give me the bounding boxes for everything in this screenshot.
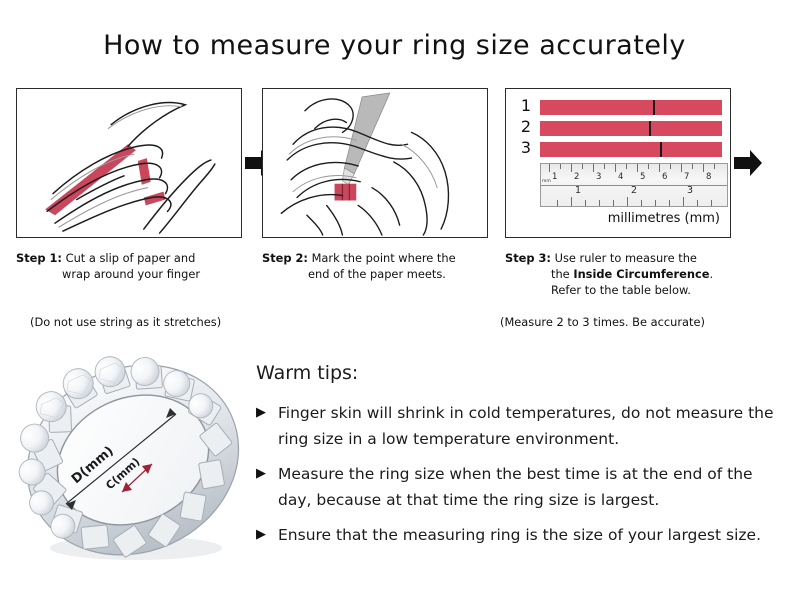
step-1-line-2: wrap around your finger <box>16 266 278 282</box>
step-3-line-2: the Inside Circumference. <box>505 266 767 282</box>
measured-strip-row: 1 <box>518 100 722 115</box>
strip-mark-tick <box>649 121 651 136</box>
tip-text: Ensure that the measuring ring is the si… <box>278 526 761 544</box>
step-1-panel <box>16 88 242 238</box>
measured-strip-row: 3 <box>518 142 722 157</box>
diamond-eternity-ring-photo: D(mm) C(mm) <box>18 352 256 568</box>
ruler-unit-caption: millimetres (mm) <box>506 211 720 226</box>
ruler-cm-number: 4 <box>618 173 623 182</box>
inside-circumference-emphasis: Inside Circumference <box>573 267 709 281</box>
paper-strip-bar <box>540 100 722 115</box>
tip-item: ▶ Finger skin will shrink in cold temper… <box>256 400 776 452</box>
ruler-cm-number: 1 <box>552 173 557 182</box>
step-2-label: Step 2: <box>262 251 308 265</box>
hand-marking-paper-with-pen-illustration <box>263 89 487 237</box>
ruler-inch-scale: 1 2 3 <box>541 186 727 207</box>
tip-item: ▶ Ensure that the measuring ring is the … <box>256 522 776 548</box>
ruler-cm-number: 5 <box>640 173 645 182</box>
step-2-line-1: Mark the point where the <box>312 251 456 265</box>
step-3-panel: 1 2 3 mm 1 2 <box>505 88 731 238</box>
ruler-inch-number: 1 <box>575 186 581 195</box>
ruler-inch-number: 3 <box>687 186 693 195</box>
warm-tips-heading: Warm tips: <box>256 362 776 384</box>
tip-item: ▶ Measure the ring size when the best ti… <box>256 461 776 513</box>
strip-number: 1 <box>518 97 534 115</box>
step-2-caption: Step 2: Mark the point where the end of … <box>262 250 524 282</box>
ruler-cm-number: 7 <box>684 173 689 182</box>
strip-mark-tick <box>660 142 662 157</box>
ruler-cm-number: 8 <box>706 173 711 182</box>
ruler-centimetre-scale: mm 1 2 3 4 5 6 7 8 <box>541 164 727 186</box>
step-1-caption: Step 1: Cut a slip of paper and wrap aro… <box>16 250 278 282</box>
triangle-bullet-icon: ▶ <box>256 461 266 487</box>
step-2-panel <box>262 88 488 238</box>
paper-strip-bar <box>540 142 722 157</box>
ring-diagram: D(mm) C(mm) <box>18 352 256 568</box>
arrow-step-2-to-3 <box>733 146 763 180</box>
step-1-note: (Do not use string as it stretches) <box>30 314 221 330</box>
warm-tips-section: Warm tips: ▶ Finger skin will shrink in … <box>256 362 776 557</box>
strip-number: 3 <box>518 139 534 157</box>
triangle-bullet-icon: ▶ <box>256 400 266 426</box>
step-1-label: Step 1: <box>16 251 62 265</box>
step-3-column: 1 2 3 mm 1 2 <box>505 88 733 238</box>
step-2-line-2: end of the paper meets. <box>262 266 524 282</box>
step-3-line-2-prefix: the <box>551 267 573 281</box>
step-3-line-3: Refer to the table below. <box>505 282 767 298</box>
ruler-cm-number: 6 <box>662 173 667 182</box>
arrow-right-icon <box>733 146 763 180</box>
step-3-label: Step 3: <box>505 251 551 265</box>
paper-strip-bar <box>540 121 722 136</box>
ruler-cm-number: 3 <box>596 173 601 182</box>
tip-text: Measure the ring size when the best time… <box>278 465 753 509</box>
ruler-mm-corner-label: mm <box>542 179 551 184</box>
strip-number: 2 <box>518 118 534 136</box>
ruler-inch-number: 2 <box>631 186 637 195</box>
step-1-line-1: Cut a slip of paper and <box>66 251 196 265</box>
step-3-note: (Measure 2 to 3 times. Be accurate) <box>500 314 705 330</box>
step-1-column <box>16 88 244 238</box>
measured-strip-row: 2 <box>518 121 722 136</box>
step-3-line-2-suffix: . <box>709 267 713 281</box>
ruler-cm-number: 2 <box>574 173 579 182</box>
step-3-line-1: Use ruler to measure the <box>555 251 697 265</box>
page-title: How to measure your ring size accurately <box>0 30 789 61</box>
ruler-illustration: mm 1 2 3 4 5 6 7 8 <box>540 163 728 207</box>
step-3-caption: Step 3: Use ruler to measure the the Ins… <box>505 250 767 298</box>
triangle-bullet-icon: ▶ <box>256 522 266 548</box>
step-2-column <box>262 88 490 238</box>
strip-mark-tick <box>653 100 655 115</box>
tip-text: Finger skin will shrink in cold temperat… <box>278 404 774 448</box>
steps-row: 1 2 3 mm 1 2 <box>0 88 789 338</box>
hand-with-paper-strip-illustration <box>17 89 241 237</box>
